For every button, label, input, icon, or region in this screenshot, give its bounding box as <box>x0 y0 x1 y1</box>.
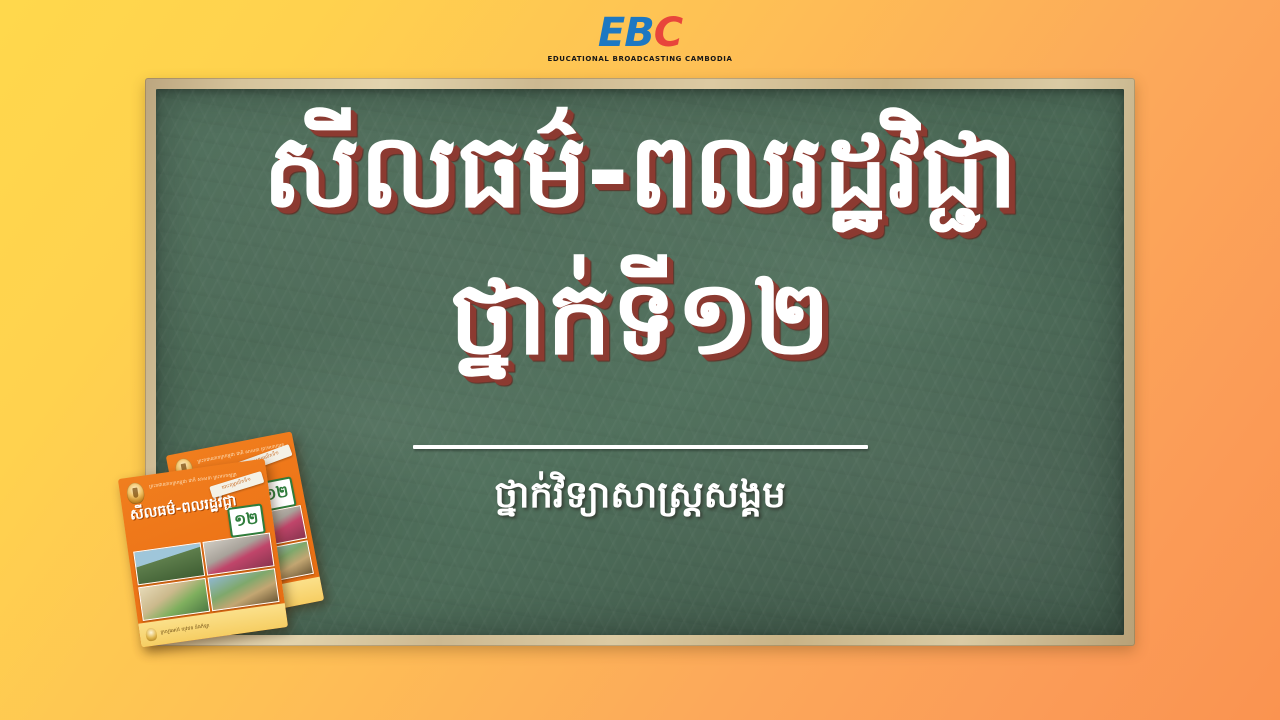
cambodia-emblem-icon <box>126 482 146 505</box>
page-title-line-2: ថ្នាក់ទី១២ <box>449 249 830 389</box>
textbook-cover-front: ព្រះរាជាណាចក្រកម្ពុជា ជាតិ សាសនា ព្រះមហា… <box>118 459 288 648</box>
ebc-logo: EBC EDUCATIONAL BROADCASTING CAMBODIA <box>0 13 1280 64</box>
logo-letter-c: C <box>654 10 682 56</box>
ebc-logo-tagline: EDUCATIONAL BROADCASTING CAMBODIA <box>0 55 1280 64</box>
ministry-emblem-icon <box>145 627 158 641</box>
book-front-grade-badge: ១២ <box>227 503 266 538</box>
slide-root: EBC EDUCATIONAL BROADCASTING CAMBODIA សី… <box>0 0 1280 720</box>
divider-line <box>413 445 868 449</box>
textbook-covers: ព្រះរាជាណាចក្រកម្ពុជា ជាតិ សាសនា ព្រះមហា… <box>118 440 333 645</box>
page-subtitle: ថ្នាក់វិទ្យាសាស្ត្រសង្គម <box>494 472 786 518</box>
book-front-footer-text: ក្រសួងអប់រំ យុវជន និងកីឡា <box>160 622 210 636</box>
logo-letter-b: B <box>624 10 654 56</box>
book-front-title: សីលធម៌-ពលរដ្ឋវិជ្ជា <box>129 490 242 525</box>
ebc-logo-letters: EBC <box>0 13 1280 53</box>
page-title-line-1: សីលធម៌-ពលរដ្ឋវិជ្ជា <box>263 97 1018 247</box>
logo-letter-e: E <box>598 10 624 56</box>
